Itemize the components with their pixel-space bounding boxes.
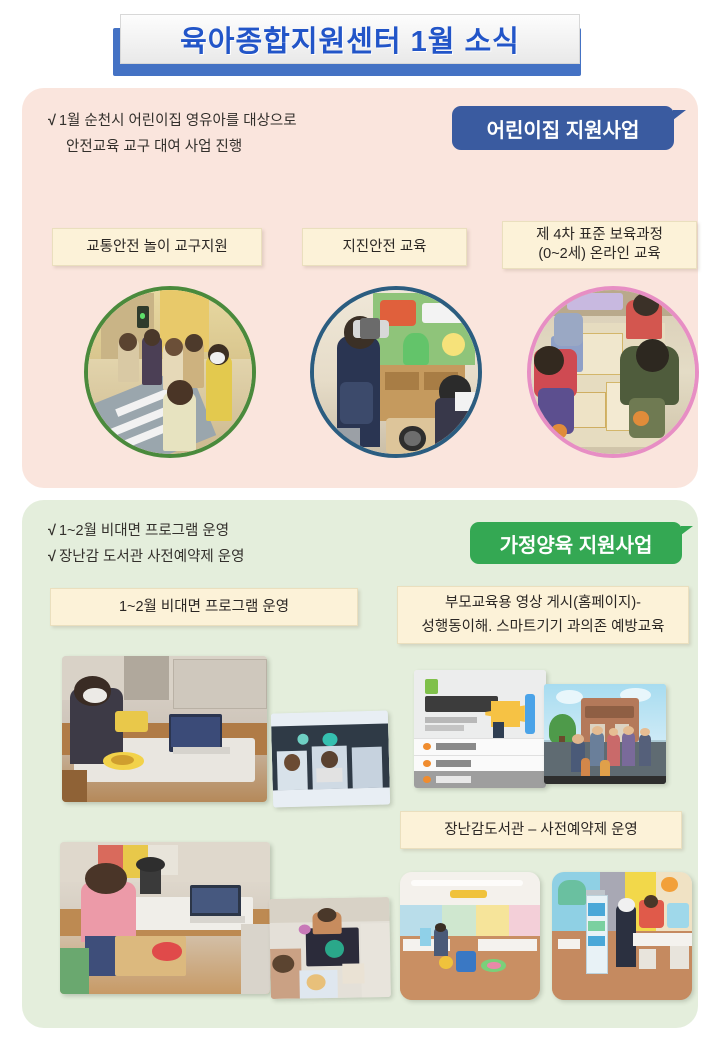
label-non-face-to-face-program-text: 1~2월 비대면 프로그램 운영 [119, 598, 289, 617]
photo-toy-library-room-b [552, 872, 692, 1000]
label-earthquake-safety: 지진안전 교육 [302, 228, 467, 266]
page-title: 육아종합지원센터 1월 소식 [180, 18, 520, 60]
section2-bullet-2-text: 장난감 도서관 사전예약제 운영 [59, 549, 245, 565]
label-parent-education-video-wrap: 부모교육용 영상 게시(홈페이지)- 성행동이해. 스마트기기 과의존 예방교육 [422, 591, 665, 639]
section1-bullet-2-text: 안전교육 교구 대여 사업 진행 [66, 139, 242, 155]
label-traffic-safety: 교통안전 놀이 교구지원 [52, 228, 262, 266]
photo-online-class-parent [60, 842, 270, 994]
section1-bullet-2: 안전교육 교구 대여 사업 진행 [48, 134, 448, 160]
section1-bullet-list: √1월 순천시 어린이집 영유아를 대상으로 안전교육 교구 대여 사업 진행 [48, 108, 448, 160]
label-earthquake-safety-text: 지진안전 교육 [342, 238, 426, 257]
photo-website-info-room [414, 670, 546, 788]
label-non-face-to-face-program: 1~2월 비대면 프로그램 운영 [50, 588, 358, 626]
label-standard-curriculum-line1: 제 4차 표준 보육과정 [536, 227, 663, 243]
badge-childcare-center-support-label: 어린이집 지원사업 [487, 114, 640, 143]
section-childcare-center-support: √1월 순천시 어린이집 영유아를 대상으로 안전교육 교구 대여 사업 진행 … [22, 88, 698, 488]
label-traffic-safety-text: 교통안전 놀이 교구지원 [86, 238, 227, 257]
label-toy-library-reservation: 장난감도서관 – 사전예약제 운영 [400, 811, 682, 849]
label-standard-curriculum: 제 4차 표준 보육과정 (0~2세) 온라인 교육 [502, 221, 697, 269]
section2-bullet-1-text: 1~2월 비대면 프로그램 운영 [59, 523, 229, 539]
newsletter-page: 육아종합지원센터 1월 소식 √1월 순천시 어린이집 영유아를 대상으로 안전… [0, 0, 720, 1040]
label-standard-curriculum-wrap: 제 4차 표준 보육과정 (0~2세) 온라인 교육 [536, 226, 663, 264]
photo-class-monitor-screen [269, 897, 391, 999]
section2-bullet-1: √1~2월 비대면 프로그램 운영 [48, 518, 448, 544]
photo-video-conference-screen [271, 710, 390, 807]
label-parent-education-video-line2: 성행동이해. 스마트기기 과의존 예방교육 [422, 619, 665, 635]
label-parent-education-video: 부모교육용 영상 게시(홈페이지)- 성행동이해. 스마트기기 과의존 예방교육 [397, 586, 689, 644]
photo-online-class-teacher [62, 656, 267, 802]
page-header: 육아종합지원센터 1월 소식 [0, 0, 720, 86]
section2-bullet-list: √1~2월 비대면 프로그램 운영 √장난감 도서관 사전예약제 운영 [48, 518, 448, 570]
badge-childcare-center-support: 어린이집 지원사업 [452, 106, 674, 150]
badge-home-childcare-support: 가정양육 지원사업 [470, 522, 682, 564]
section1-bullet-1: √1월 순천시 어린이집 영유아를 대상으로 [48, 108, 448, 134]
photo-animation-video [544, 684, 666, 784]
label-toy-library-reservation-text: 장난감도서관 – 사전예약제 운영 [444, 821, 638, 840]
check-mark-icon: √ [48, 549, 56, 565]
page-title-box: 육아종합지원센터 1월 소식 [120, 14, 580, 64]
label-parent-education-video-line1: 부모교육용 영상 게시(홈페이지)- [445, 595, 641, 611]
label-standard-curriculum-line2: (0~2세) 온라인 교육 [538, 246, 660, 262]
section-home-childcare-support: √1~2월 비대면 프로그램 운영 √장난감 도서관 사전예약제 운영 가정양육… [22, 500, 698, 1028]
photo-toy-library-room-a [400, 872, 540, 1000]
photo-vr-safety-education [310, 286, 482, 458]
check-mark-icon: √ [48, 113, 56, 129]
badge-home-childcare-support-label: 가정양육 지원사업 [500, 529, 653, 558]
check-mark-icon: √ [48, 523, 56, 539]
section2-bullet-2: √장난감 도서관 사전예약제 운영 [48, 544, 448, 570]
photo-crosswalk-practice [84, 286, 256, 458]
section1-bullet-1-text: 1월 순천시 어린이집 영유아를 대상으로 [59, 113, 297, 129]
photo-floor-mat-activity [527, 286, 699, 458]
